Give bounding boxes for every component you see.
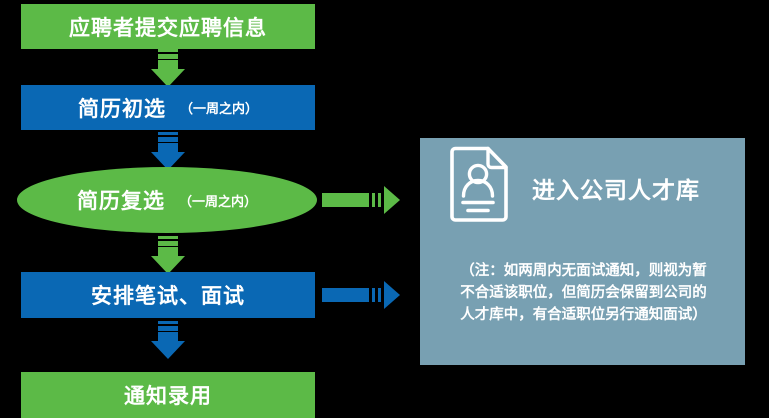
connector-shaft xyxy=(158,143,178,152)
connector-bar-top xyxy=(158,321,178,324)
flow-node-notify-hire[interactable]: 通知录用 xyxy=(21,372,315,418)
connector-bar-mid xyxy=(158,54,178,59)
resume-profile-document-icon xyxy=(448,146,510,229)
flow-connector-right-to-talent-pool-green xyxy=(322,186,400,214)
flowchart-canvas: 应聘者提交应聘信息 简历初选 （一周之内） 简历复选 （一周之内） xyxy=(0,0,769,418)
flow-connector-down-1 xyxy=(151,49,185,87)
flow-connector-down-3 xyxy=(151,236,185,274)
connector-shaft xyxy=(158,247,178,256)
connector-shaft xyxy=(322,288,369,302)
connector-bar-top xyxy=(158,132,178,135)
connector-arrowhead xyxy=(384,186,400,214)
talent-pool-header: 进入公司人才库 xyxy=(448,146,700,229)
connector-bar-top xyxy=(158,49,178,52)
note-line-3: 人才库中，有合适职位另行通知面试） xyxy=(436,304,731,326)
flow-node-label-main: 安排笔试、面试 xyxy=(91,280,245,310)
connector-shaft xyxy=(158,60,178,69)
flow-node-label-main: 简历复选 xyxy=(77,185,165,215)
connector-tick xyxy=(372,193,375,207)
connector-tick xyxy=(378,193,381,207)
connector-arrowhead xyxy=(151,341,185,359)
flow-node-label-sub: （一周之内） xyxy=(180,98,258,117)
connector-bar-mid xyxy=(158,241,178,246)
connector-shaft xyxy=(158,332,178,341)
connector-tick xyxy=(378,288,381,302)
connector-tick xyxy=(372,288,375,302)
connector-bar-top xyxy=(158,236,178,239)
flow-node-submit-application[interactable]: 应聘者提交应聘信息 xyxy=(21,4,315,49)
connector-shaft xyxy=(322,193,369,207)
connector-arrowhead xyxy=(384,281,400,309)
note-line-2: 不合适该职位，但简历会保留到公司的 xyxy=(436,282,731,304)
connector-bar-mid xyxy=(158,326,178,331)
connector-bar-mid xyxy=(158,137,178,142)
flow-node-label-main: 简历初选 xyxy=(78,93,166,123)
flow-node-label-sub: （一周之内） xyxy=(179,191,257,210)
flow-connector-right-to-talent-pool-blue xyxy=(322,281,400,309)
talent-pool-panel[interactable]: 进入公司人才库 （注：如两周内无面试通知，则视为暂 不合适该职位，但简历会保留到… xyxy=(420,138,745,365)
flow-node-label-main: 应聘者提交应聘信息 xyxy=(69,12,267,42)
flow-connector-down-4 xyxy=(151,321,185,359)
talent-pool-title: 进入公司人才库 xyxy=(532,171,700,205)
flow-node-resume-first-screen[interactable]: 简历初选 （一周之内） xyxy=(21,85,315,130)
flow-connector-down-2 xyxy=(151,132,185,170)
flow-node-arrange-written-and-interview[interactable]: 安排笔试、面试 xyxy=(21,272,315,318)
note-line-1: （注：如两周内无面试通知，则视为暂 xyxy=(436,260,731,282)
flow-node-resume-second-screen[interactable]: 简历复选 （一周之内） xyxy=(17,167,317,233)
talent-pool-note: （注：如两周内无面试通知，则视为暂 不合适该职位，但简历会保留到公司的 人才库中… xyxy=(436,260,731,326)
flow-node-label-main: 通知录用 xyxy=(124,380,212,410)
